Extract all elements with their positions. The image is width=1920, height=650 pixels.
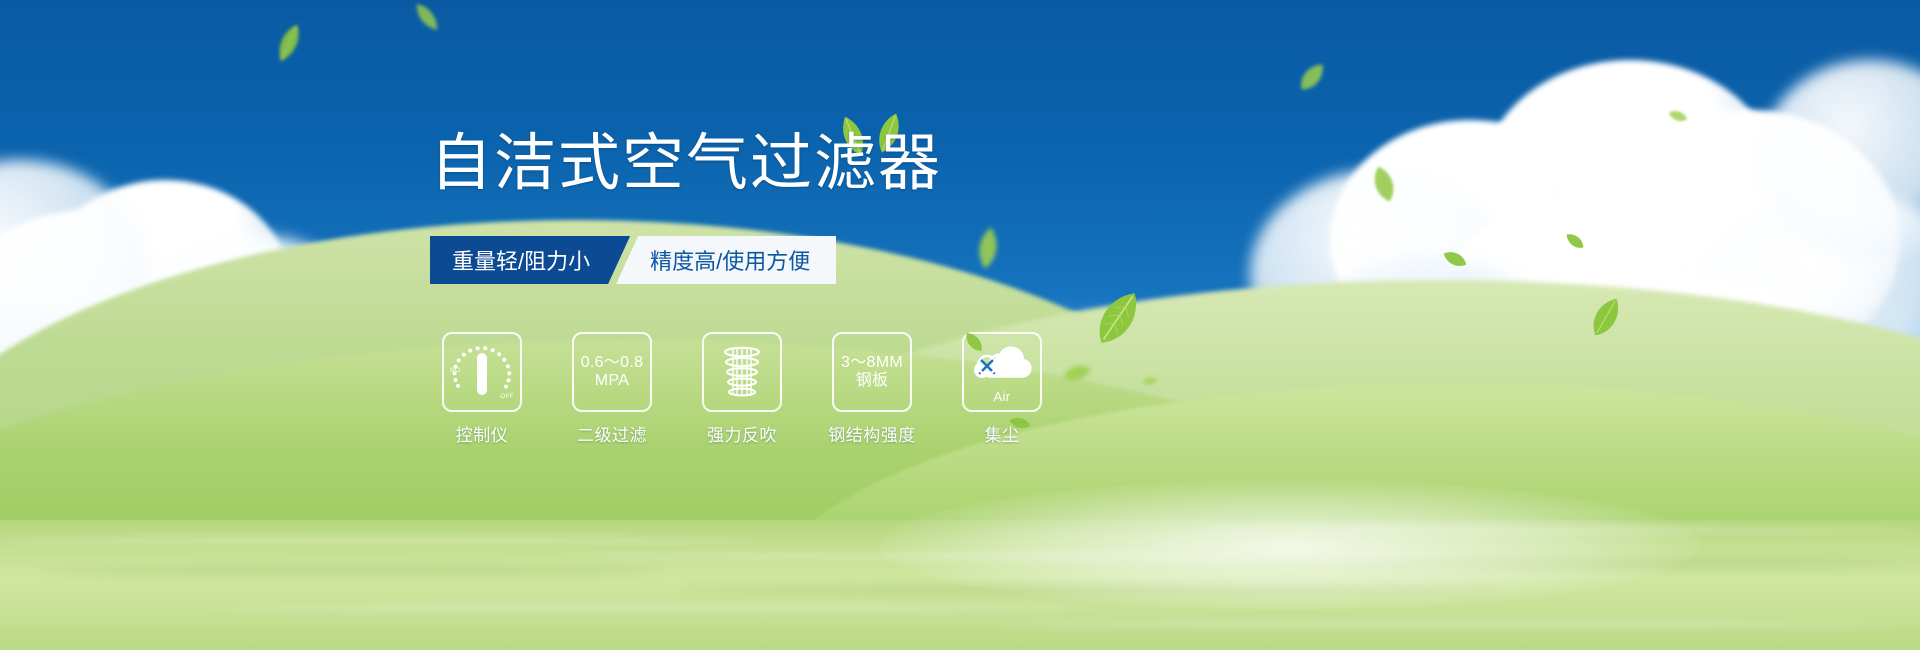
pressure-text-icon: 0.6～0.8 MPA <box>581 354 644 390</box>
pressure-line-2: MPA <box>581 372 644 390</box>
feature-item-controller: NO OFF 控制仪 <box>432 332 532 446</box>
coil-blowback-icon <box>716 343 768 401</box>
feature-list: NO OFF 控制仪 0.6～0.8 MPA 二级过滤 <box>432 332 1052 446</box>
cloud-air-icon <box>969 346 1035 392</box>
gauge-needle <box>477 353 487 395</box>
feature-item-dust-collection: Air 集尘 <box>952 332 1052 446</box>
banner-content: 自洁式空气过滤器 重量轻/阻力小 精度高/使用方便 <box>0 0 1920 650</box>
tagline-badges: 重量轻/阻力小 精度高/使用方便 <box>430 236 836 284</box>
pressure-line-1: 0.6～0.8 <box>581 354 644 372</box>
feature-icon-box: NO OFF <box>442 332 522 412</box>
feature-caption: 强力反吹 <box>692 421 792 446</box>
feature-caption: 控制仪 <box>432 421 532 446</box>
feature-icon-box: Air <box>962 332 1042 412</box>
feature-icon-box: 3～8MM 钢板 <box>832 332 912 412</box>
badge-precision-convenience: 精度高/使用方便 <box>616 236 836 284</box>
feature-item-blowback: 强力反吹 <box>692 332 792 446</box>
feature-caption: 集尘 <box>952 421 1052 446</box>
feature-item-secondary-filter: 0.6～0.8 MPA 二级过滤 <box>562 332 662 446</box>
page-title: 自洁式空气过滤器 <box>430 132 942 194</box>
feature-caption: 钢结构强度 <box>822 421 922 446</box>
feature-caption: 二级过滤 <box>562 421 662 446</box>
steel-plate-text-icon: 3～8MM 钢板 <box>841 354 903 390</box>
gauge-label-off: OFF <box>500 393 514 400</box>
feature-icon-box <box>702 332 782 412</box>
badge-weight-resistance: 重量轻/阻力小 <box>430 236 630 284</box>
feature-icon-box: 0.6～0.8 MPA <box>572 332 652 412</box>
promo-banner: 自洁式空气过滤器 重量轻/阻力小 精度高/使用方便 <box>0 0 1920 650</box>
feature-item-steel-strength: 3～8MM 钢板 钢结构强度 <box>822 332 922 446</box>
gauge-label-no: NO <box>450 367 460 374</box>
steel-line-2: 钢板 <box>841 372 903 390</box>
gauge-icon: NO OFF <box>451 341 513 403</box>
cloud-air-label: Air <box>969 389 1035 404</box>
steel-line-1: 3～8MM <box>841 354 903 372</box>
